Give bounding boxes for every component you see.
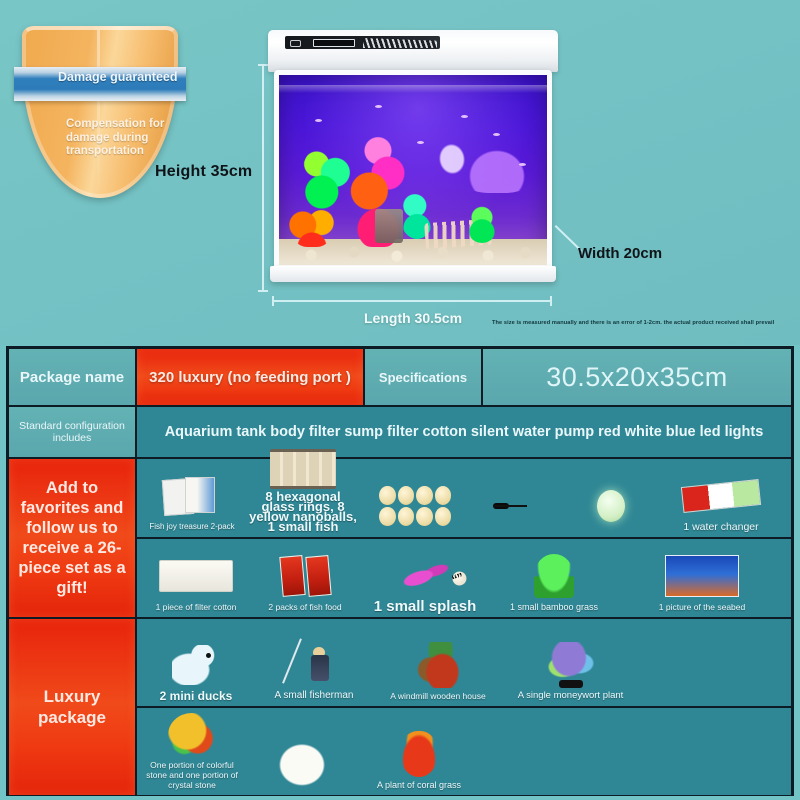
gift-item: A small fisherman — [255, 619, 373, 706]
plant-decor — [301, 143, 353, 213]
table-row-gift-items: Add to favorites and follow us to receiv… — [8, 458, 792, 618]
tank-glass-water — [274, 70, 552, 270]
height-label: Height 35cm — [155, 163, 252, 181]
gift-item: 1 small splash — [355, 539, 495, 617]
luxury-package-label: Luxury package — [8, 618, 136, 796]
width-label: Width 20cm — [578, 245, 662, 262]
gift-item — [571, 459, 651, 537]
bulb-icon — [597, 483, 625, 529]
gift-item-caption: One portion of colorful stone and one po… — [139, 760, 245, 790]
gift-item — [247, 708, 357, 795]
gift-item: A windmill wooden house — [373, 619, 503, 706]
tank-base — [270, 266, 556, 282]
gift-item-caption: 1 piece of filter cotton — [156, 602, 237, 612]
item-strip: One portion of colorful stone and one po… — [136, 707, 792, 796]
cotton-icon — [159, 553, 233, 599]
length-label: Length 30.5cm — [364, 310, 462, 326]
package-spec-table: Package name 320 luxury (no feeding port… — [6, 346, 794, 796]
food-icon — [281, 553, 329, 599]
badge-body-text: Compensation for damage during transport… — [66, 118, 170, 159]
gift-item-caption: A small fisherman — [275, 691, 354, 701]
gift-item: 2 mini ducks — [137, 619, 255, 706]
lid-control-panel — [285, 36, 440, 49]
gift-item-caption: A single moneywort plant — [518, 691, 624, 701]
standard-config-value: Aquarium tank body filter sump filter co… — [136, 406, 792, 458]
gift-item — [471, 459, 571, 537]
table-row-standard-config: Standard configuration includes Aquarium… — [8, 406, 792, 458]
badge-ribbon-text: Damage guaranteed — [58, 70, 178, 84]
gift-item: 2 packs of fish food — [255, 539, 355, 617]
power-button-icon — [290, 40, 301, 47]
crystal-icon — [277, 741, 327, 787]
product-hero-image: Damage guaranteed Compensation for damag… — [0, 0, 800, 345]
gift-item-caption: 1 small splash — [374, 602, 477, 612]
balls-icon — [379, 483, 451, 529]
gift-item-caption: 2 packs of fish food — [268, 602, 341, 612]
money-icon — [545, 642, 597, 688]
lid-display-icon — [313, 39, 355, 47]
gift-item: A plant of coral grass — [357, 708, 481, 795]
duck-icon — [172, 642, 220, 688]
gift-item-caption: 2 mini ducks — [160, 691, 233, 701]
gift-item: One portion of colorful stone and one po… — [137, 708, 247, 795]
specifications-label: Specifications — [364, 348, 482, 406]
table-row-luxury-items: Luxury package 2 mini ducksA small fishe… — [8, 618, 792, 796]
coralgrass-icon — [400, 731, 438, 777]
specifications-value: 30.5x20x35cm — [482, 348, 792, 406]
package-name-value[interactable]: 320 luxury (no feeding port ) — [136, 348, 364, 406]
item-strip: 2 mini ducksA small fishermanA windmill … — [136, 618, 792, 707]
bamboo-icon — [534, 553, 574, 599]
gift-item: 1 water changer — [651, 459, 791, 537]
gift-item-caption: A plant of coral grass — [377, 780, 461, 790]
item-strip: Fish joy treasure 2-pack8 hexagonal glas… — [136, 458, 792, 538]
gift-item — [638, 619, 791, 706]
gift-item: 8 hexagonal glass rings, 8 yellow nanoba… — [247, 459, 359, 537]
seabed-icon — [665, 553, 739, 599]
add-to-favorites-promo[interactable]: Add to favorites and follow us to receiv… — [8, 458, 136, 618]
length-measure-line — [272, 296, 552, 306]
gift-item: 1 small bamboo grass — [495, 539, 613, 617]
gift-item-caption: Fish joy treasure 2-pack — [149, 522, 234, 532]
fisher-icon — [295, 642, 333, 688]
item-strip: 1 piece of filter cotton2 packs of fish … — [136, 538, 792, 618]
rings-icon — [270, 449, 336, 489]
gift-item-caption: 1 picture of the seabed — [659, 602, 745, 612]
gift-item-caption: 1 small bamboo grass — [510, 602, 598, 612]
table-row-package-name: Package name 320 luxury (no feeding port… — [8, 348, 792, 406]
aquarium-tank-photo — [268, 30, 558, 292]
house-icon — [416, 642, 460, 688]
fishnet-icon — [493, 483, 549, 529]
gift-item — [481, 708, 791, 795]
standard-config-label: Standard configuration includes — [8, 406, 136, 458]
colorstone-icon — [168, 712, 216, 757]
gift-item-caption: 8 hexagonal glass rings, 8 yellow nanoba… — [249, 492, 357, 532]
gift-item: 1 piece of filter cotton — [137, 539, 255, 617]
lid-vent-pattern — [363, 38, 437, 48]
height-measure-line — [258, 64, 268, 292]
changer-icon — [682, 473, 760, 519]
gift-item-groups: Fish joy treasure 2-pack8 hexagonal glas… — [136, 458, 792, 618]
gift-item-caption: A windmill wooden house — [390, 691, 485, 701]
gift-item — [359, 459, 471, 537]
books-icon — [163, 473, 221, 519]
gift-item: 1 picture of the seabed — [613, 539, 791, 617]
gift-item: Fish joy treasure 2-pack — [137, 459, 247, 537]
plant-decor — [465, 203, 499, 243]
package-name-label: Package name — [8, 348, 136, 406]
size-disclaimer-text: The size is measured manually and there … — [492, 320, 798, 326]
splash-icon — [390, 553, 460, 599]
tank-lid — [268, 30, 558, 72]
gift-item: A single moneywort plant — [503, 619, 638, 706]
luxury-item-groups: 2 mini ducksA small fishermanA windmill … — [136, 618, 792, 796]
gift-item-caption: 1 water changer — [683, 522, 758, 532]
